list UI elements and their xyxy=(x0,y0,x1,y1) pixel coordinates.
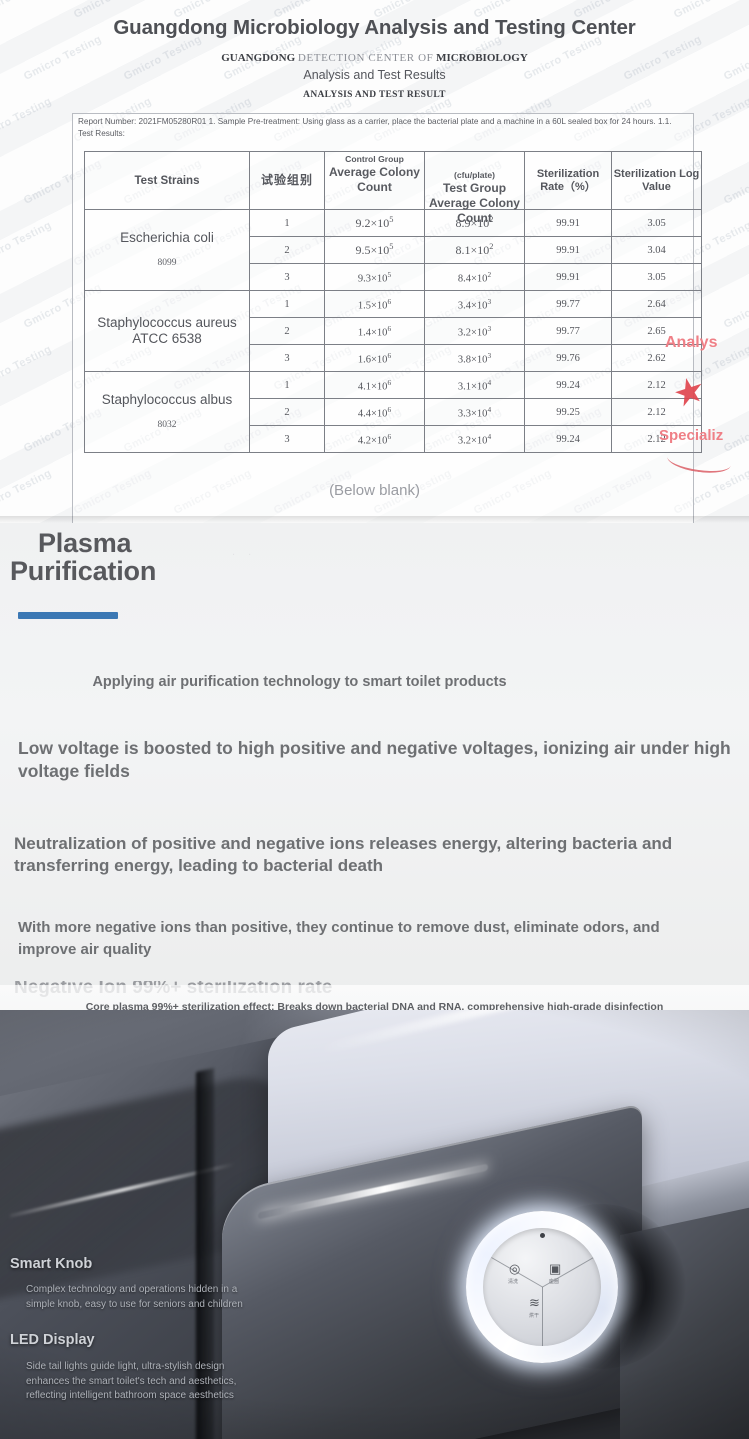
report-subtitle-chinese: Analysis and Test Results xyxy=(0,68,749,82)
cell-control-count: 4.2×106 xyxy=(325,426,425,453)
cell-control-count: 9.3×105 xyxy=(325,264,425,291)
table-row: Staphylococcus aureus ATCC 653811.5×1063… xyxy=(85,291,702,318)
cell-sterilization-rate: 99.91 xyxy=(525,264,612,291)
cell-sterilization-log: 3.04 xyxy=(612,237,702,264)
page-root: Gmicro TestingGmicro TestingGmicro Testi… xyxy=(0,0,749,1439)
cell-control-count: 1.4×106 xyxy=(325,318,425,345)
cell-sterilization-log: 2.62 xyxy=(612,345,702,372)
below-blank-note: (Below blank) xyxy=(0,482,749,499)
cell-control-count: 9.5×105 xyxy=(325,237,425,264)
plasma-ghost-text: . . xyxy=(232,546,256,558)
strain-label: Escherichia coli xyxy=(120,230,214,245)
watermark-text: Gmicro Testing xyxy=(0,219,54,268)
cell-test-count: 3.4×103 xyxy=(425,291,525,318)
cell-sterilization-rate: 99.77 xyxy=(525,291,612,318)
table-row: Staphylococcus albus803214.1×1063.1×1049… xyxy=(85,372,702,399)
cell-sterilization-rate: 99.76 xyxy=(525,345,612,372)
test-report-section: Gmicro TestingGmicro TestingGmicro Testi… xyxy=(0,0,749,523)
cell-sterilization-rate: 99.25 xyxy=(525,399,612,426)
watermark-text: Gmicro Testing xyxy=(0,95,54,144)
cell-strain-name: Staphylococcus albus8032 xyxy=(85,372,250,453)
cell-sterilization-rate: 99.91 xyxy=(525,210,612,237)
header-group-cn: 试验组别 xyxy=(250,152,325,210)
plasma-purification-section: Plasma Purification . . Applying air pur… xyxy=(0,523,749,1010)
watermark-text: Gmicro Testing xyxy=(722,281,749,330)
cell-group-number: 1 xyxy=(250,291,325,318)
knob-face[interactable]: ◎ 清洗 ▣ 座圈 ≋ 烘干 xyxy=(483,1228,601,1346)
cell-test-count: 3.3×104 xyxy=(425,399,525,426)
header-test-small: (cfu/plate) xyxy=(425,170,524,181)
table-row: Escherichia coli809919.2×1058.9×10299.91… xyxy=(85,210,702,237)
dry-icon[interactable]: ≋ xyxy=(529,1296,540,1309)
report-subtitle-caps: ANALYSIS AND TEST RESULT xyxy=(0,90,749,100)
dry-label: 烘干 xyxy=(529,1312,539,1319)
cell-strain-name: Escherichia coli8099 xyxy=(85,210,250,291)
plasma-feature-3: Neutralization of positive and negative … xyxy=(14,833,744,878)
header-control-group: Control Group Average Colony Count xyxy=(325,152,425,210)
cell-group-number: 2 xyxy=(250,237,325,264)
cell-sterilization-log: 3.05 xyxy=(612,210,702,237)
cell-sterilization-log: 2.65 xyxy=(612,318,702,345)
watermark-text: Gmicro Testing xyxy=(722,157,749,206)
cell-group-number: 3 xyxy=(250,264,325,291)
header-control-big: Average Colony Count xyxy=(325,165,424,195)
cell-sterilization-rate: 99.91 xyxy=(525,237,612,264)
cell-sterilization-rate: 99.77 xyxy=(525,318,612,345)
cell-test-count: 3.1×104 xyxy=(425,372,525,399)
caption-led-display-body: Side tail lights guide light, ultra-styl… xyxy=(26,1360,256,1404)
table-header-row: Test Strains 试验组别 Control Group Average … xyxy=(85,152,702,210)
cell-group-number: 3 xyxy=(250,345,325,372)
watermark-text: Gmicro Testing xyxy=(722,405,749,454)
strain-code: 8099 xyxy=(87,258,247,270)
cell-test-count: 3.2×103 xyxy=(425,318,525,345)
watermark-text: Gmicro Testing xyxy=(0,343,54,392)
report-subtitle-english: GUANGDONG DETECTION CENTER OF MICROBIOLO… xyxy=(0,52,749,64)
seat-label: 座圈 xyxy=(549,1278,559,1285)
header-test-group: (cfu/plate) Test Group Average Colony Co… xyxy=(425,152,525,210)
cell-sterilization-log: 2.12 xyxy=(612,426,702,453)
plasma-title-line2: Purification xyxy=(10,556,156,587)
plasma-feature-1: Applying air purification technology to … xyxy=(0,671,749,693)
rear-wash-label: 清洗 xyxy=(508,1278,518,1285)
accent-rule xyxy=(18,612,118,619)
test-results-table: Test Strains 试验组别 Control Group Average … xyxy=(84,151,702,453)
subtitle-light-mid: DETECTION CENTER OF xyxy=(298,52,433,64)
rear-wash-icon[interactable]: ◎ xyxy=(509,1262,520,1275)
cell-sterilization-rate: 99.24 xyxy=(525,372,612,399)
cell-sterilization-log: 2.64 xyxy=(612,291,702,318)
cell-control-count: 4.4×106 xyxy=(325,399,425,426)
knob-indicator-dot xyxy=(540,1233,545,1238)
cell-group-number: 1 xyxy=(250,372,325,399)
cell-group-number: 1 xyxy=(250,210,325,237)
cell-sterilization-log: 3.05 xyxy=(612,264,702,291)
strain-code: 8032 xyxy=(87,420,247,432)
cell-test-count: 8.9×102 xyxy=(425,210,525,237)
cell-group-number: 3 xyxy=(250,426,325,453)
cell-control-count: 1.6×106 xyxy=(325,345,425,372)
seat-icon[interactable]: ▣ xyxy=(549,1262,561,1275)
cell-group-number: 2 xyxy=(250,399,325,426)
subtitle-bold-right: MICROBIOLOGY xyxy=(436,52,528,64)
cell-control-count: 9.2×105 xyxy=(325,210,425,237)
cell-strain-name: Staphylococcus aureus ATCC 6538 xyxy=(85,291,250,372)
cell-test-count: 8.4×102 xyxy=(425,264,525,291)
report-title: Guangdong Microbiology Analysis and Test… xyxy=(0,16,749,40)
caption-smart-knob-heading: Smart Knob xyxy=(10,1256,92,1272)
cell-sterilization-log: 2.12 xyxy=(612,372,702,399)
strain-label: Staphylococcus albus xyxy=(102,392,233,407)
plasma-feature-2: Low voltage is boosted to high positive … xyxy=(18,737,733,783)
section-divider-shadow xyxy=(0,516,749,523)
knob-spoke-top xyxy=(542,1287,543,1346)
cell-sterilization-log: 2.12 xyxy=(612,399,702,426)
plasma-band-text: Core plasma 99%+ sterilization effect: B… xyxy=(0,1001,749,1010)
header-sterilization-rate: Sterilization Rate（%） xyxy=(525,152,612,210)
plasma-feature-4: With more negative ions than positive, t… xyxy=(18,917,718,961)
header-test-strains: Test Strains xyxy=(85,152,250,210)
caption-smart-knob-body: Complex technology and operations hidden… xyxy=(26,1283,256,1312)
subtitle-bold-left: GUANGDONG xyxy=(221,52,295,64)
cell-sterilization-rate: 99.24 xyxy=(525,426,612,453)
caption-led-display-heading: LED Display xyxy=(10,1332,95,1348)
plasma-title-line1: Plasma xyxy=(38,528,131,559)
cell-group-number: 2 xyxy=(250,318,325,345)
header-control-small: Control Group xyxy=(325,154,424,165)
cell-control-count: 4.1×106 xyxy=(325,372,425,399)
smart-knob[interactable]: ◎ 清洗 ▣ 座圈 ≋ 烘干 xyxy=(466,1211,618,1363)
header-sterilization-log: Sterilization Log Value xyxy=(612,152,702,210)
strain-label: Staphylococcus aureus ATCC 6538 xyxy=(97,315,237,346)
cell-test-count: 8.1×102 xyxy=(425,237,525,264)
cell-test-count: 3.2×104 xyxy=(425,426,525,453)
table-body: Escherichia coli809919.2×1058.9×10299.91… xyxy=(85,210,702,453)
cell-control-count: 1.5×106 xyxy=(325,291,425,318)
cell-test-count: 3.8×103 xyxy=(425,345,525,372)
report-meta-text: Report Number: 2021FM05280R01 1. Sample … xyxy=(78,116,678,140)
